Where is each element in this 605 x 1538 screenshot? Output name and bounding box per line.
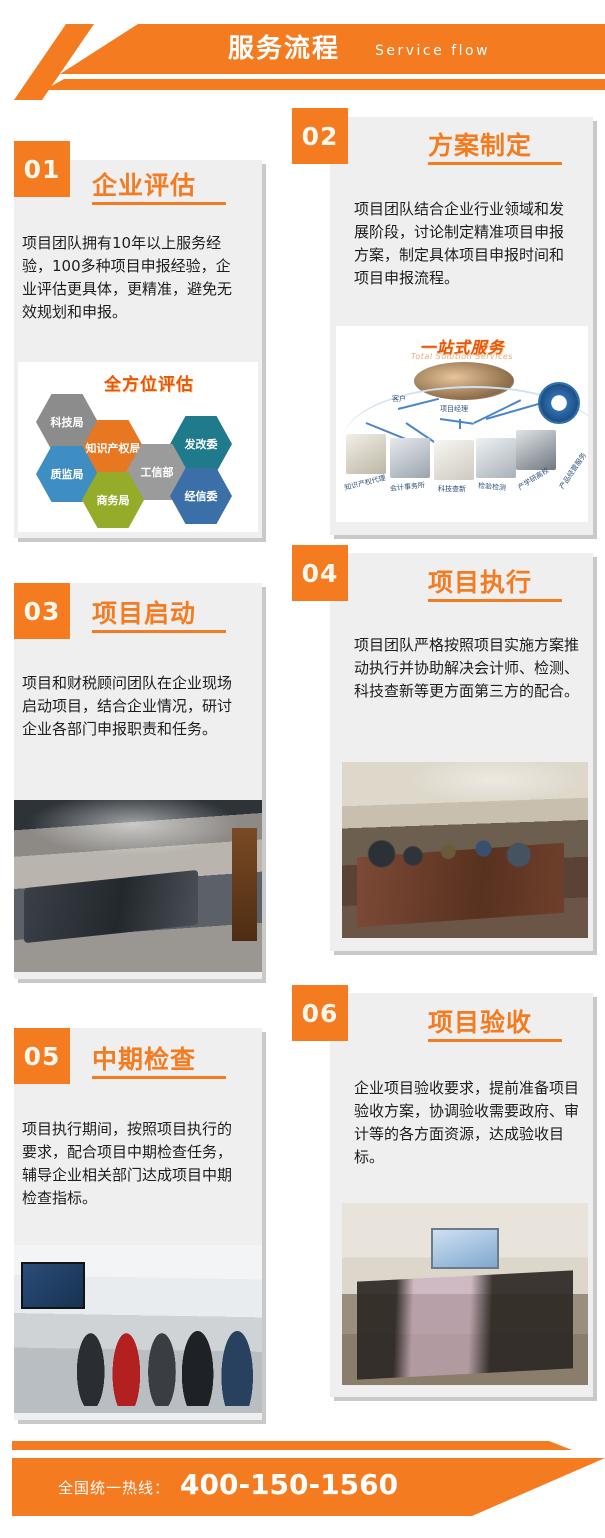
arrow-branch-3 [459,419,461,429]
step-photo-04 [342,762,588,938]
title-rule-04 [428,599,562,602]
page-header: 服务流程 Service flow [0,0,605,100]
step-body-04: 项目团队严格按照项目实施方案推动执行并协助解决会计师、检测、科技查新等更方面第三… [354,634,580,703]
step-badge-04: 04 [292,545,348,601]
step-photo-05 [14,1245,262,1413]
hex-infographic-title: 全方位评估 [104,370,194,395]
step-badge-06: 06 [292,985,348,1041]
media-hex-infographic: 全方位评估 科技局 知识产权局 发改委 质监局 工信部 商务局 经信委 [18,362,258,532]
one-stop-service-label-1: 知识产权代理 [343,473,386,493]
one-stop-client-label: 客户 [392,394,406,404]
step-body-02: 项目团队结合企业行业领域和发展阶段，讨论制定精准项目申报方案，制定具体项目申报时… [354,198,576,290]
step-photo-03 [14,800,262,972]
page-title: 服务流程 [228,30,340,68]
one-stop-service-label-4: 检验检测 [478,481,507,493]
title-rule-03 [92,630,226,633]
step-body-03: 项目和财税顾问团队在企业现场启动项目，结合企业情况，研讨企业各部门申报职责和任务… [22,672,240,741]
step-body-05: 项目执行期间，按照项目执行的要求，配合项目中期检查任务，辅导企业相关部门达成项目… [22,1118,240,1210]
header-underline-stripe [44,79,605,90]
title-rule-01 [92,202,226,205]
one-stop-manager-label: 项目经理 [440,404,468,414]
step-title-03: 项目启动 [92,594,196,630]
media-one-stop-diagram: 一站式服务 Total Solution Services 客户 项目经理 知识… [336,326,588,522]
step-badge-02: 02 [292,108,348,164]
one-stop-thumb-accounting [390,438,430,478]
title-rule-05 [92,1076,226,1079]
footer-stripe [12,1441,572,1450]
one-stop-service-label-2: 会计事务所 [390,480,426,494]
one-stop-service-label-6: 产品经营服务 [557,451,588,491]
page-subtitle: Service flow [375,40,490,62]
step-title-04: 项目执行 [428,563,532,599]
step-body-01: 项目团队拥有10年以上服务经验，100多种项目申报经验，企业评估更具体，更精准，… [22,232,240,324]
step-photo-06 [342,1203,588,1385]
one-stop-certification-seal [538,382,580,424]
step-title-05: 中期检查 [92,1040,196,1076]
step-body-06: 企业项目验收要求，提前准备项目验收方案，协调验收需要政府、审计等的各方面资源，达… [354,1077,580,1169]
step-badge-03: 03 [14,583,70,639]
step-badge-05: 05 [14,1028,70,1084]
one-stop-thumb-search [434,440,474,480]
title-rule-02 [428,162,562,165]
one-stop-thumb-testing [476,438,516,478]
step-badge-01: 01 [14,141,70,197]
step-title-06: 项目验收 [428,1003,532,1039]
one-stop-thumb-university [516,430,556,470]
one-stop-service-label-3: 科技查新 [438,484,466,494]
one-stop-thumb-ip [346,434,386,474]
service-flow-infographic: 服务流程 Service flow 01 企业评估 项目团队拥有10年以上服务经… [0,0,605,1538]
one-stop-subtitle: Total Solution Services [411,352,513,361]
step-title-01: 企业评估 [92,166,196,202]
title-rule-06 [428,1039,562,1042]
hotline-number[interactable]: 400-150-1560 [180,1468,398,1501]
step-title-02: 方案制定 [428,126,532,162]
hotline-label: 全国统一热线： [58,1477,170,1498]
